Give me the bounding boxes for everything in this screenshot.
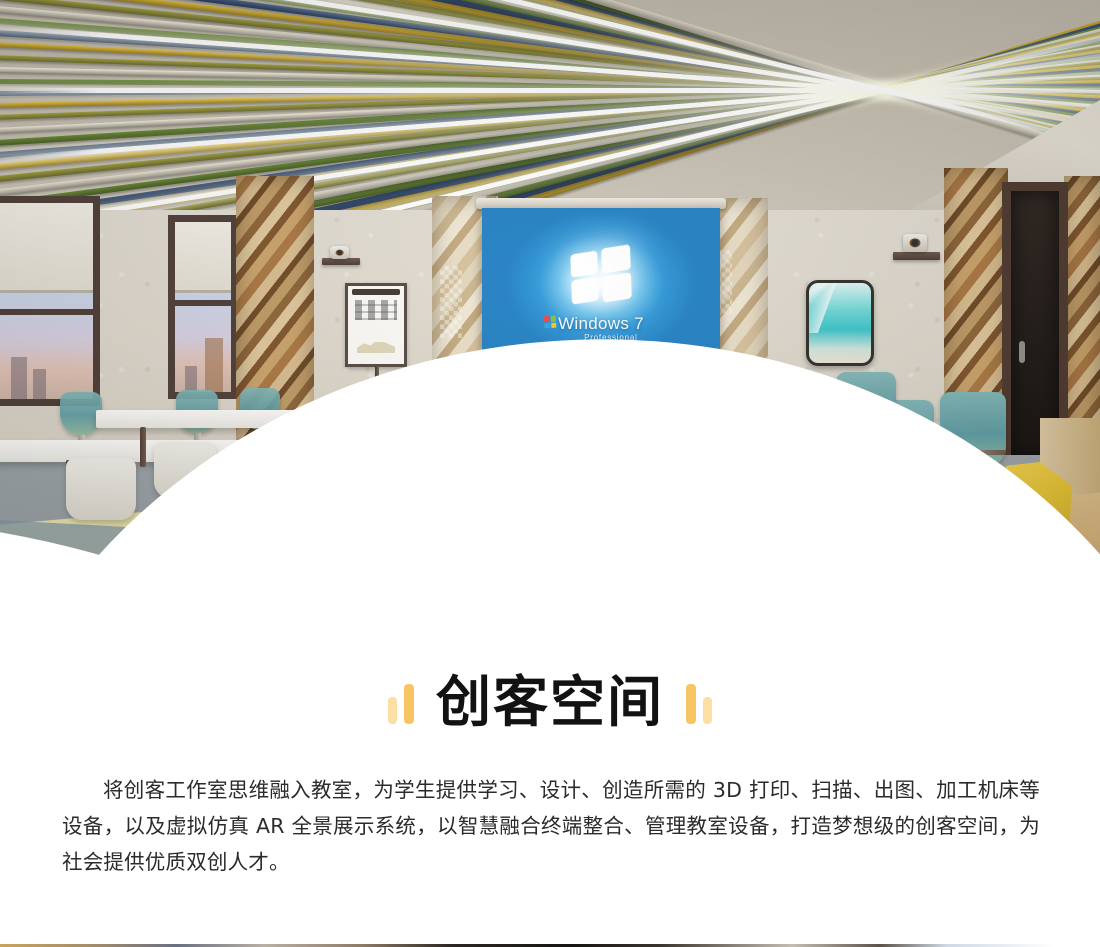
title-decoration-left-icon — [388, 680, 414, 724]
windows-logo-icon — [568, 245, 634, 305]
flipchart-easel — [345, 283, 407, 367]
building — [33, 369, 46, 399]
building — [11, 357, 27, 399]
wood-checker-accent — [440, 266, 462, 338]
flipchart-board — [345, 283, 407, 367]
flipchart-sketch — [355, 300, 398, 320]
wall-shelf-left — [322, 258, 360, 265]
building — [205, 338, 223, 392]
ptz-camera-right-icon — [903, 234, 927, 252]
maker-space-promo-page: Windows 7 Professional — [0, 0, 1100, 947]
roller-blind — [0, 203, 93, 293]
desk-leg — [140, 427, 146, 467]
hero-photo-classroom: Windows 7 Professional — [0, 0, 1100, 660]
ptz-camera-left-icon — [330, 246, 349, 259]
window-left-small — [168, 215, 238, 399]
wall-shelf-right — [893, 252, 940, 260]
windows-version-text: Windows 7 Professional — [558, 314, 644, 342]
ocean-artwork — [806, 280, 874, 366]
door-handle — [1019, 341, 1025, 363]
window-mullion — [0, 309, 93, 315]
title-decoration-right-icon — [686, 680, 712, 724]
roller-blind — [175, 222, 231, 293]
flipchart-graph — [357, 334, 395, 353]
city-view — [175, 293, 231, 392]
page-title: 创客空间 — [436, 675, 664, 730]
building — [185, 366, 197, 392]
window-mullion — [175, 300, 231, 306]
ceiling-baffle-array — [0, 0, 1100, 210]
white-chair — [66, 458, 136, 520]
window-left-large — [0, 196, 100, 406]
section-title-row: 创客空间 — [0, 664, 1100, 740]
windows-title: Windows 7 — [558, 314, 644, 333]
flipchart-clip — [352, 289, 400, 295]
windows-small-logo-icon — [544, 316, 557, 329]
section-description: 将创客工作室思维融入教室，为学生提供学习、设计、创造所需的 3D 打印、扫描、出… — [62, 772, 1040, 880]
